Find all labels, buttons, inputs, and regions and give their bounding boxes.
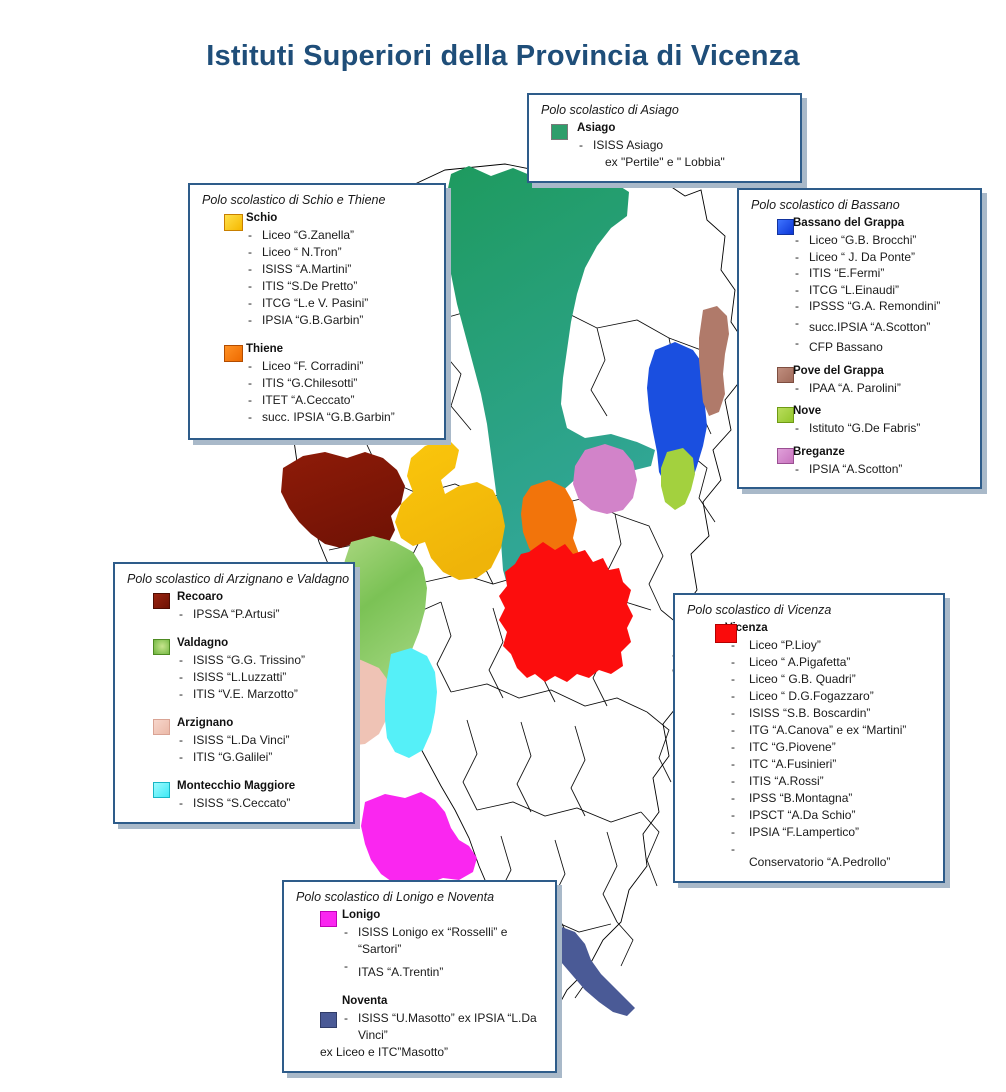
legend-item-list: ISISS Lonigo ex “Rosselli” e “Sartori” I… xyxy=(342,924,545,981)
legend-group-name: Schio xyxy=(246,211,434,226)
list-item: Liceo “G.B. Brocchi” xyxy=(793,232,970,249)
legend-title-lonigo-noventa: Polo scolastico di Lonigo e Noventa xyxy=(296,890,545,904)
list-item: IPAA “A. Parolini” xyxy=(793,380,970,397)
legend-group-name: Valdagno xyxy=(177,636,343,651)
color-swatch-pove xyxy=(777,367,794,383)
list-item: ITET “A.Ceccato” xyxy=(246,392,434,409)
list-item: Liceo “ G.B. Quadri” xyxy=(725,671,933,688)
list-item: Liceo “ D.G.Fogazzaro” xyxy=(725,688,933,705)
list-item-continuation: ex Liceo e ITC”Masotto” xyxy=(320,1044,545,1061)
list-item: IPSS “B.Montagna” xyxy=(725,790,933,807)
legend-title-bassano: Polo scolastico di Bassano xyxy=(751,198,970,212)
legend-group-name: Lonigo xyxy=(342,908,545,923)
list-item: Liceo “ J. Da Ponte” xyxy=(793,249,970,266)
color-swatch-recoaro xyxy=(153,593,170,609)
legend-item-list: Liceo “G.B. Brocchi” Liceo “ J. Da Ponte… xyxy=(793,232,970,356)
list-item: ISISS “L.Da Vinci” xyxy=(177,732,343,749)
legend-group-name: Nove xyxy=(793,404,970,419)
list-item: IPSSA “P.Artusi” xyxy=(177,606,343,623)
legend-box-schio-thiene: Polo scolastico di Schio e Thiene Schio … xyxy=(188,183,446,440)
list-item: ITG “A.Canova” e ex “Martini” xyxy=(725,722,933,739)
list-item: ISISS “S.Ceccato” xyxy=(177,795,343,812)
list-item: ITC “G.Piovene” xyxy=(725,739,933,756)
list-item: ISISS “G.G. Trissino” xyxy=(177,652,343,669)
legend-item-list: IPSIA “A.Scotton” xyxy=(793,461,970,478)
legend-item-list: IPSSA “P.Artusi” xyxy=(177,606,343,623)
list-item: IPSIA “G.B.Garbin” xyxy=(246,312,434,329)
legend-group-pove-del-grappa: Pove del Grappa IPAA “A. Parolini” xyxy=(749,364,970,397)
legend-group-schio: Schio Liceo “G.Zanella” Liceo “ N.Tron” … xyxy=(200,211,434,329)
list-item: CFP Bassano xyxy=(793,335,970,356)
list-item: Liceo “F. Corradini” xyxy=(246,358,434,375)
legend-item-list: Istituto “G.De Fabris” xyxy=(793,420,970,437)
list-item: ITAS “A.Trentin” xyxy=(342,958,545,981)
legend-group-breganze: Breganze IPSIA “A.Scotton” xyxy=(749,445,970,478)
list-item: ITIS “E.Fermi” xyxy=(793,265,970,282)
legend-group-name: Arzignano xyxy=(177,716,343,731)
list-item: ISISS “L.Luzzatti” xyxy=(177,669,343,686)
list-item: Conservatorio “A.Pedrollo” xyxy=(725,841,933,871)
list-item: Liceo “ A.Pigafetta” xyxy=(725,654,933,671)
legend-item-list: IPAA “A. Parolini” xyxy=(793,380,970,397)
list-item: ITCG “L.e V. Pasini” xyxy=(246,295,434,312)
list-item: succ.IPSIA “A.Scotton” xyxy=(793,315,970,336)
legend-group-name: Asiago xyxy=(577,121,790,136)
page-title: Istituti Superiori della Provincia di Vi… xyxy=(0,40,1006,73)
list-item: Liceo “G.Zanella” xyxy=(246,227,434,244)
legend-title-arzignano-valdagno: Polo scolastico di Arzignano e Valdagno xyxy=(127,572,343,586)
legend-group-nove: Nove Istituto “G.De Fabris” xyxy=(749,404,970,437)
list-item: IPSIA “F.Lampertico” xyxy=(725,824,933,841)
legend-group-name: Recoaro xyxy=(177,590,343,605)
color-swatch-arzignano xyxy=(153,719,170,735)
color-swatch-bassano xyxy=(777,219,794,235)
list-item: ITIS “S.De Pretto” xyxy=(246,278,434,295)
spacer xyxy=(200,331,434,342)
legend-item-list: ISISS “L.Da Vinci” ITIS “G.Galilei” xyxy=(177,732,343,766)
list-item: Liceo “P.Lioy” xyxy=(725,637,933,654)
legend-item-list: Liceo “G.Zanella” Liceo “ N.Tron” ISISS … xyxy=(246,227,434,329)
color-swatch-schio xyxy=(224,214,243,231)
legend-group-valdagno: Valdagno ISISS “G.G. Trissino” ISISS “L.… xyxy=(125,636,343,703)
color-swatch-nove xyxy=(777,407,794,423)
list-item: IPSCT “A.Da Schio” xyxy=(725,807,933,824)
legend-group-montecchio-maggiore: Montecchio Maggiore ISISS “S.Ceccato” xyxy=(125,779,343,812)
color-swatch-thiene xyxy=(224,345,243,362)
legend-title-schio-thiene: Polo scolastico di Schio e Thiene xyxy=(202,193,434,207)
spacer xyxy=(125,705,343,716)
legend-title-asiago: Polo scolastico di Asiago xyxy=(541,103,790,117)
legend-group-name: Breganze xyxy=(793,445,970,460)
legend-title-vicenza: Polo scolastico di Vicenza xyxy=(687,603,933,617)
legend-group-name: Vicenza xyxy=(725,621,933,636)
color-swatch-lonigo xyxy=(320,911,337,927)
list-item: ITC “A.Fusinieri” xyxy=(725,756,933,773)
list-item: ITIS “V.E. Marzotto” xyxy=(177,686,343,703)
list-item: ISISS Lonigo ex “Rosselli” e “Sartori” xyxy=(342,924,545,958)
legend-group-thiene: Thiene Liceo “F. Corradini” ITIS “G.Chil… xyxy=(200,342,434,426)
list-item-continuation: ex "Pertile" e " Lobbia" xyxy=(577,154,790,171)
color-swatch-breganze xyxy=(777,448,794,464)
recoaro-region xyxy=(281,452,405,548)
legend-item-list: ISISS Asiago ex "Pertile" e " Lobbia" xyxy=(577,137,790,171)
list-item: ISISS “U.Masotto” ex IPSIA “L.Da Vinci” xyxy=(342,1010,545,1044)
list-item: ITCG “L.Einaudi” xyxy=(793,282,970,299)
list-item: ITIS “G.Galilei” xyxy=(177,749,343,766)
legend-item-list: ISISS “U.Masotto” ex IPSIA “L.Da Vinci” … xyxy=(342,1010,545,1061)
spacer xyxy=(125,625,343,636)
legend-group-arzignano: Arzignano ISISS “L.Da Vinci” ITIS “G.Gal… xyxy=(125,716,343,766)
legend-box-vicenza: Polo scolastico di Vicenza Vicenza Liceo… xyxy=(673,593,945,883)
legend-box-bassano: Polo scolastico di Bassano Bassano del G… xyxy=(737,188,982,489)
legend-group-name: Montecchio Maggiore xyxy=(177,779,343,794)
legend-item-list: ISISS “S.Ceccato” xyxy=(177,795,343,812)
legend-box-arzignano-valdagno: Polo scolastico di Arzignano e Valdagno … xyxy=(113,562,355,824)
list-item: ITIS “A.Rossi” xyxy=(725,773,933,790)
color-swatch-montecchio xyxy=(153,782,170,798)
legend-item-list: ISISS “G.G. Trissino” ISISS “L.Luzzatti”… xyxy=(177,652,343,703)
legend-group-recoaro: Recoaro IPSSA “P.Artusi” xyxy=(125,590,343,623)
legend-box-asiago: Polo scolastico di Asiago Asiago ISISS A… xyxy=(527,93,802,183)
legend-item-list: Liceo “P.Lioy” Liceo “ A.Pigafetta” Lice… xyxy=(725,637,933,871)
color-swatch-asiago xyxy=(551,124,568,140)
legend-group-name: Bassano del Grappa xyxy=(793,216,970,231)
spacer xyxy=(294,983,545,994)
list-item: ITIS “G.Chilesotti” xyxy=(246,375,434,392)
legend-group-vicenza: Vicenza Liceo “P.Lioy” Liceo “ A.Pigafet… xyxy=(685,621,933,871)
legend-group-asiago: Asiago ISISS Asiago ex "Pertile" e " Lob… xyxy=(539,121,790,171)
color-swatch-noventa xyxy=(320,1012,337,1028)
list-item: ISISS Asiago xyxy=(577,137,790,154)
color-swatch-valdagno xyxy=(153,639,170,655)
legend-group-name: Noventa xyxy=(342,994,545,1009)
legend-item-list: Liceo “F. Corradini” ITIS “G.Chilesotti”… xyxy=(246,358,434,426)
legend-group-name: Pove del Grappa xyxy=(793,364,970,379)
list-item: ISISS “A.Martini” xyxy=(246,261,434,278)
legend-group-name: Thiene xyxy=(246,342,434,357)
list-item: IPSSS “G.A. Remondini” xyxy=(793,298,970,315)
spacer xyxy=(125,768,343,779)
legend-group-lonigo: Lonigo ISISS Lonigo ex “Rosselli” e “Sar… xyxy=(294,908,545,981)
legend-group-bassano-del-grappa: Bassano del Grappa Liceo “G.B. Brocchi” … xyxy=(749,216,970,356)
legend-box-lonigo-noventa: Polo scolastico di Lonigo e Noventa Loni… xyxy=(282,880,557,1073)
list-item: Liceo “ N.Tron” xyxy=(246,244,434,261)
list-item: Istituto “G.De Fabris” xyxy=(793,420,970,437)
list-item: ISISS “S.B. Boscardin” xyxy=(725,705,933,722)
list-item: IPSIA “A.Scotton” xyxy=(793,461,970,478)
list-item: succ. IPSIA “G.B.Garbin” xyxy=(246,409,434,426)
legend-group-noventa: Noventa ISISS “U.Masotto” ex IPSIA “L.Da… xyxy=(294,994,545,1061)
